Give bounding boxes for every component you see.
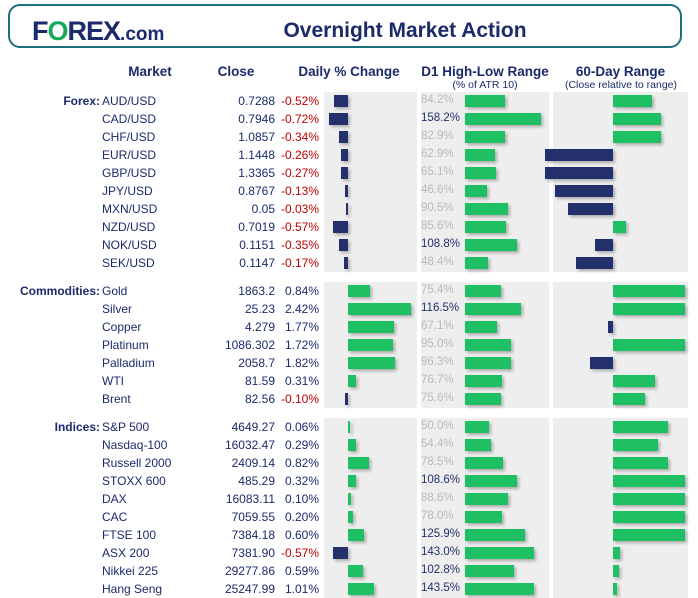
d1-range-value: 78.5%: [421, 456, 463, 468]
d1-range-bar: [465, 321, 497, 333]
d1-range-bar: [465, 565, 514, 577]
table-row[interactable]: Nasdaq-10016032.470.29%54.4%: [0, 436, 698, 454]
daily-change-bar: [348, 339, 393, 351]
close-value: 0.7019: [195, 220, 275, 234]
table-row[interactable]: STOXX 600485.290.32%108.6%: [0, 472, 698, 490]
close-value: 7059.55: [195, 510, 275, 524]
d1-range-bar: [465, 257, 488, 269]
table-row[interactable]: CAD/USD0.7946-0.72%158.2%: [0, 110, 698, 128]
d1-range-bar: [465, 95, 505, 107]
daily-change-bar: [348, 493, 351, 505]
d1-range-value: 108.8%: [421, 238, 463, 250]
daily-change-value: -0.17%: [275, 256, 319, 270]
column-header-close: Close: [196, 64, 276, 79]
d1-range-value: 50.0%: [421, 420, 463, 432]
d1-range-value: 125.9%: [421, 528, 463, 540]
market-name: EUR/USD: [102, 148, 198, 162]
table-row[interactable]: Palladium2058.71.82%96.3%: [0, 354, 698, 372]
sixty-day-range-bar: [613, 393, 645, 405]
market-name: DAX: [102, 492, 198, 506]
daily-change-value: -0.03%: [275, 202, 319, 216]
market-name: Platinum: [102, 338, 198, 352]
d1-range-bar: [465, 457, 503, 469]
sixty-day-range-bar: [590, 357, 613, 369]
daily-change-bar: [341, 167, 348, 179]
daily-change-value: -0.26%: [275, 148, 319, 162]
d1-range-value: 75.4%: [421, 284, 463, 296]
daily-change-value: -0.72%: [275, 112, 319, 126]
market-table: Forex:AUD/USD0.7288-0.52%84.2%CAD/USD0.7…: [0, 92, 698, 598]
d1-range-value: 143.5%: [421, 582, 463, 594]
d1-range-bar: [465, 475, 517, 487]
d1-range-value: 88.6%: [421, 492, 463, 504]
d1-range-bar: [465, 285, 501, 297]
column-header-market: Market: [95, 64, 205, 79]
sixty-day-range-bar: [613, 131, 661, 143]
d1-range-value: 65.1%: [421, 166, 463, 178]
daily-change-value: 0.06%: [275, 420, 319, 434]
sixty-day-range-bar: [613, 529, 685, 541]
d1-range-bar: [465, 149, 495, 161]
daily-change-bar: [348, 565, 363, 577]
d1-range-bar: [465, 131, 505, 143]
sixty-day-range-bar: [545, 167, 613, 179]
market-name: SEK/USD: [102, 256, 198, 270]
table-row[interactable]: Platinum1086.3021.72%95.0%: [0, 336, 698, 354]
d1-range-value: 143.0%: [421, 546, 463, 558]
sixty-day-range-bar: [613, 565, 619, 577]
daily-change-bar: [345, 185, 348, 197]
sixty-day-range-bar: [613, 303, 685, 315]
sixty-day-range-bar: [613, 547, 620, 559]
daily-change-bar: [339, 131, 348, 143]
daily-change-value: 0.10%: [275, 492, 319, 506]
daily-change-bar: [329, 113, 348, 125]
close-value: 1.1448: [195, 148, 275, 162]
d1-range-value: 75.6%: [421, 392, 463, 404]
close-value: 2058.7: [195, 356, 275, 370]
column-header-daily-change: Daily % Change: [289, 64, 409, 79]
market-name: NOK/USD: [102, 238, 198, 252]
daily-change-bar: [334, 95, 348, 107]
market-name: NZD/USD: [102, 220, 198, 234]
d1-range-bar: [465, 393, 501, 405]
market-name: Palladium: [102, 356, 198, 370]
daily-change-bar: [333, 221, 348, 233]
d1-range-bar: [465, 357, 511, 369]
d1-range-value: 54.4%: [421, 438, 463, 450]
table-row[interactable]: GBP/USD1.3365-0.27%65.1%: [0, 164, 698, 182]
market-group: Forex:AUD/USD0.7288-0.52%84.2%CAD/USD0.7…: [0, 92, 698, 272]
group-label: Forex:: [0, 94, 100, 108]
market-name: MXN/USD: [102, 202, 198, 216]
daily-change-bar: [339, 239, 348, 251]
table-row[interactable]: Silver25.232.42%116.5%: [0, 300, 698, 318]
daily-change-bar: [348, 529, 364, 541]
table-row[interactable]: Nikkei 22529277.860.59%102.8%: [0, 562, 698, 580]
table-row[interactable]: Forex:AUD/USD0.7288-0.52%84.2%: [0, 92, 698, 110]
close-value: 82.56: [195, 392, 275, 406]
market-name: Silver: [102, 302, 198, 316]
table-row[interactable]: SEK/USD0.1147-0.17%48.4%: [0, 254, 698, 272]
sixty-day-range-bar: [613, 511, 685, 523]
market-name: CAC: [102, 510, 198, 524]
table-row[interactable]: CAC7059.550.20%78.0%: [0, 508, 698, 526]
sixty-day-range-bar: [608, 321, 613, 333]
close-value: 25247.99: [195, 582, 275, 596]
daily-change-value: -0.10%: [275, 392, 319, 406]
market-name: STOXX 600: [102, 474, 198, 488]
sixty-day-range-bar: [613, 221, 626, 233]
market-name: Nasdaq-100: [102, 438, 198, 452]
close-value: 1086.302: [195, 338, 275, 352]
d1-range-bar: [465, 113, 541, 125]
d1-range-bar: [465, 493, 508, 505]
market-name: JPY/USD: [102, 184, 198, 198]
close-value: 16032.47: [195, 438, 275, 452]
market-name: Hang Seng: [102, 582, 198, 596]
d1-range-value: 102.8%: [421, 564, 463, 576]
table-row[interactable]: JPY/USD0.8767-0.13%46.6%: [0, 182, 698, 200]
d1-range-bar: [465, 339, 511, 351]
close-value: 4.279: [195, 320, 275, 334]
d1-range-value: 108.6%: [421, 474, 463, 486]
daily-change-bar: [348, 357, 395, 369]
sixty-day-range-bar: [613, 475, 685, 487]
daily-change-value: -0.57%: [275, 546, 319, 560]
close-value: 0.8767: [195, 184, 275, 198]
daily-change-value: 2.42%: [275, 302, 319, 316]
sixty-day-range-bar: [613, 493, 685, 505]
market-group: Commodities:Gold1863.20.84%75.4%Silver25…: [0, 282, 698, 408]
table-row[interactable]: Hang Seng25247.991.01%143.5%: [0, 580, 698, 598]
sixty-day-range-bar: [555, 185, 613, 197]
d1-range-value: 95.0%: [421, 338, 463, 350]
market-name: CHF/USD: [102, 130, 198, 144]
d1-range-bar: [465, 375, 502, 387]
sixty-day-range-bar: [613, 113, 661, 125]
d1-range-bar: [465, 221, 506, 233]
table-row[interactable]: ASX 2007381.90-0.57%143.0%: [0, 544, 698, 562]
market-name: FTSE 100: [102, 528, 198, 542]
close-value: 0.7288: [195, 94, 275, 108]
close-value: 0.7946: [195, 112, 275, 126]
close-value: 1863.2: [195, 284, 275, 298]
sixty-day-range-bar: [613, 439, 658, 451]
sixty-day-range-bar: [613, 285, 685, 297]
close-value: 1.0857: [195, 130, 275, 144]
market-name: GBP/USD: [102, 166, 198, 180]
daily-change-value: -0.13%: [275, 184, 319, 198]
market-name: Gold: [102, 284, 198, 298]
daily-change-value: 0.32%: [275, 474, 319, 488]
d1-range-value: 116.5%: [421, 302, 463, 314]
daily-change-value: 0.20%: [275, 510, 319, 524]
d1-range-value: 62.9%: [421, 148, 463, 160]
daily-change-value: 0.31%: [275, 374, 319, 388]
d1-range-bar: [465, 421, 489, 433]
market-name: Russell 2000: [102, 456, 198, 470]
table-row[interactable]: WTI81.590.31%76.7%: [0, 372, 698, 390]
d1-range-bar: [465, 167, 496, 179]
market-name: WTI: [102, 374, 198, 388]
daily-change-value: 0.82%: [275, 456, 319, 470]
d1-range-bar: [465, 547, 534, 559]
market-name: CAD/USD: [102, 112, 198, 126]
d1-range-bar: [465, 203, 508, 215]
close-value: 0.1147: [195, 256, 275, 270]
column-subheader-d1-range: (% of ATR 10): [421, 79, 549, 91]
d1-range-bar: [465, 583, 534, 595]
table-row[interactable]: Commodities:Gold1863.20.84%75.4%: [0, 282, 698, 300]
sixty-day-range-bar: [613, 95, 652, 107]
daily-change-bar: [344, 257, 348, 269]
table-row[interactable]: Russell 20002409.140.82%78.5%: [0, 454, 698, 472]
table-row[interactable]: FTSE 1007384.180.60%125.9%: [0, 526, 698, 544]
table-row[interactable]: MXN/USD0.05-0.03%90.5%: [0, 200, 698, 218]
market-name: ASX 200: [102, 546, 198, 560]
d1-range-value: 90.5%: [421, 202, 463, 214]
d1-range-bar: [465, 439, 491, 451]
d1-range-bar: [465, 529, 525, 541]
close-value: 25.23: [195, 302, 275, 316]
close-value: 81.59: [195, 374, 275, 388]
daily-change-value: 0.84%: [275, 284, 319, 298]
sixty-day-range-bar: [613, 457, 668, 469]
table-row[interactable]: Copper4.2791.77%67.1%: [0, 318, 698, 336]
table-row[interactable]: NOK/USD0.1151-0.35%108.8%: [0, 236, 698, 254]
d1-range-value: 67.1%: [421, 320, 463, 332]
table-row[interactable]: NZD/USD0.7019-0.57%85.6%: [0, 218, 698, 236]
daily-change-value: -0.27%: [275, 166, 319, 180]
header-bar: FOREX.com Overnight Market Action: [8, 4, 682, 48]
d1-range-value: 48.4%: [421, 256, 463, 268]
d1-range-bar: [465, 303, 521, 315]
market-group: Indices:S&P 5004649.270.06%50.0%Nasdaq-1…: [0, 418, 698, 598]
group-label: Indices:: [0, 420, 100, 434]
table-row[interactable]: CHF/USD1.0857-0.34%82.9%: [0, 128, 698, 146]
sixty-day-range-bar: [545, 149, 613, 161]
close-value: 4649.27: [195, 420, 275, 434]
daily-change-bar: [348, 439, 356, 451]
sixty-day-range-bar: [568, 203, 613, 215]
market-action-page: FOREX.com Overnight Market Action Market…: [0, 0, 698, 541]
table-row[interactable]: DAX16083.110.10%88.6%: [0, 490, 698, 508]
d1-range-value: 78.0%: [421, 510, 463, 522]
column-subheader-60day-range: (Close relative to range): [548, 79, 694, 91]
market-name: S&P 500: [102, 420, 198, 434]
daily-change-bar: [346, 203, 348, 215]
page-title: Overnight Market Action: [10, 19, 680, 43]
market-name: Copper: [102, 320, 198, 334]
daily-change-value: 0.59%: [275, 564, 319, 578]
daily-change-value: 0.60%: [275, 528, 319, 542]
close-value: 0.1151: [195, 238, 275, 252]
daily-change-value: 1.77%: [275, 320, 319, 334]
daily-change-bar: [348, 375, 356, 387]
d1-range-value: 76.7%: [421, 374, 463, 386]
daily-change-bar: [341, 149, 348, 161]
close-value: 29277.86: [195, 564, 275, 578]
close-value: 7381.90: [195, 546, 275, 560]
daily-change-bar: [348, 457, 369, 469]
sixty-day-range-bar: [595, 239, 613, 251]
sixty-day-range-bar: [613, 583, 617, 595]
daily-change-value: -0.35%: [275, 238, 319, 252]
daily-change-value: -0.57%: [275, 220, 319, 234]
market-name: AUD/USD: [102, 94, 198, 108]
daily-change-bar: [345, 393, 348, 405]
daily-change-value: 0.29%: [275, 438, 319, 452]
daily-change-bar: [348, 321, 394, 333]
daily-change-bar: [348, 511, 353, 523]
daily-change-bar: [348, 285, 370, 297]
d1-range-bar: [465, 185, 487, 197]
table-row[interactable]: Indices:S&P 5004649.270.06%50.0%: [0, 418, 698, 436]
column-header-d1-range: D1 High-Low Range: [421, 64, 549, 79]
market-name: Brent: [102, 392, 198, 406]
daily-change-value: -0.34%: [275, 130, 319, 144]
daily-change-bar: [348, 583, 374, 595]
close-value: 16083.11: [195, 492, 275, 506]
close-value: 485.29: [195, 474, 275, 488]
table-row[interactable]: Brent82.56-0.10%75.6%: [0, 390, 698, 408]
column-header-60day-range: 60-Day Range: [553, 64, 688, 79]
daily-change-bar: [348, 475, 356, 487]
close-value: 0.05: [195, 202, 275, 216]
daily-change-value: -0.52%: [275, 94, 319, 108]
daily-change-value: 1.01%: [275, 582, 319, 596]
daily-change-bar: [348, 303, 411, 315]
daily-change-value: 1.72%: [275, 338, 319, 352]
d1-range-bar: [465, 511, 502, 523]
daily-change-bar: [348, 421, 350, 433]
sixty-day-range-bar: [613, 375, 655, 387]
close-value: 7384.18: [195, 528, 275, 542]
sixty-day-range-bar: [576, 257, 613, 269]
d1-range-value: 46.6%: [421, 184, 463, 196]
daily-change-value: 1.82%: [275, 356, 319, 370]
d1-range-value: 85.6%: [421, 220, 463, 232]
d1-range-value: 84.2%: [421, 94, 463, 106]
close-value: 1.3365: [195, 166, 275, 180]
d1-range-bar: [465, 239, 517, 251]
close-value: 2409.14: [195, 456, 275, 470]
market-name: Nikkei 225: [102, 564, 198, 578]
group-label: Commodities:: [0, 284, 100, 298]
table-row[interactable]: EUR/USD1.1448-0.26%62.9%: [0, 146, 698, 164]
d1-range-value: 96.3%: [421, 356, 463, 368]
d1-range-value: 82.9%: [421, 130, 463, 142]
sixty-day-range-bar: [613, 339, 685, 351]
daily-change-bar: [333, 547, 348, 559]
d1-range-value: 158.2%: [421, 112, 463, 124]
sixty-day-range-bar: [613, 421, 668, 433]
